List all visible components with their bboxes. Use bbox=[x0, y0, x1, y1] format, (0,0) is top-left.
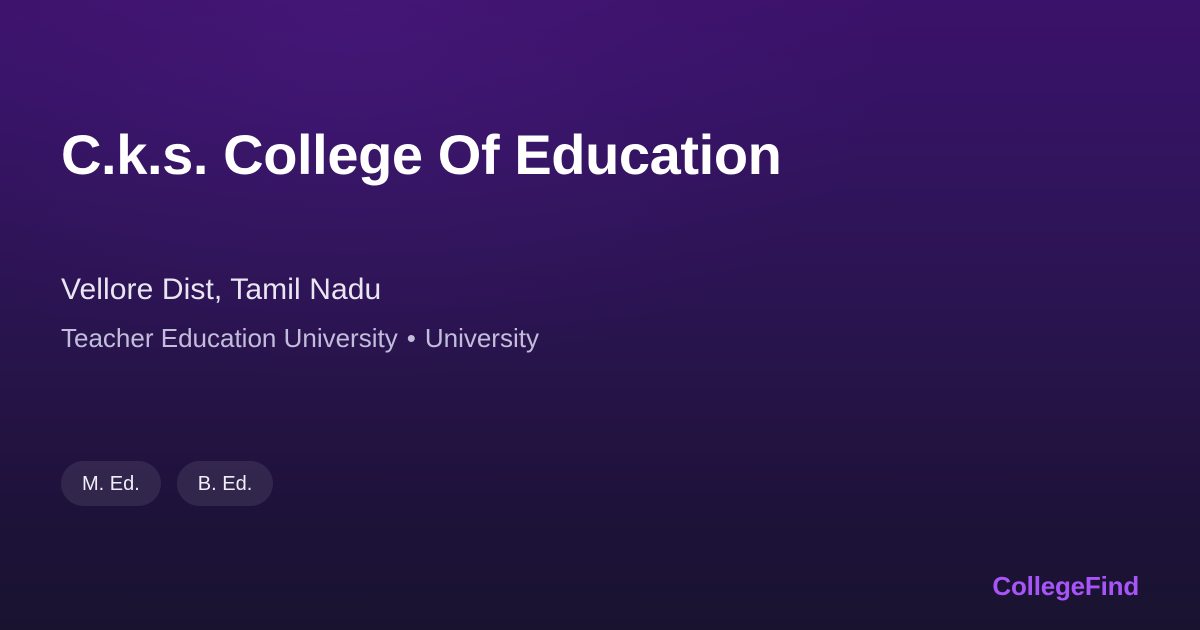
college-social-card: C.k.s. College Of Education Vellore Dist… bbox=[0, 0, 1200, 630]
status-badge: B. Ed. bbox=[177, 461, 273, 506]
category-primary: Teacher Education University bbox=[61, 321, 398, 355]
status-badge: M. Ed. bbox=[61, 461, 161, 506]
brand-logo: CollegeFind bbox=[992, 571, 1139, 602]
program-badge-list: M. Ed. B. Ed. bbox=[61, 461, 273, 506]
page-title: C.k.s. College Of Education bbox=[61, 124, 781, 187]
category-secondary: University bbox=[425, 321, 539, 355]
meta-block: Vellore Dist, Tamil Nadu Teacher Educati… bbox=[61, 270, 539, 355]
category-line: Teacher Education University • Universit… bbox=[61, 321, 539, 355]
location-text: Vellore Dist, Tamil Nadu bbox=[61, 270, 539, 310]
card-content: C.k.s. College Of Education Vellore Dist… bbox=[61, 0, 1139, 630]
bullet-separator-icon: • bbox=[407, 321, 416, 355]
